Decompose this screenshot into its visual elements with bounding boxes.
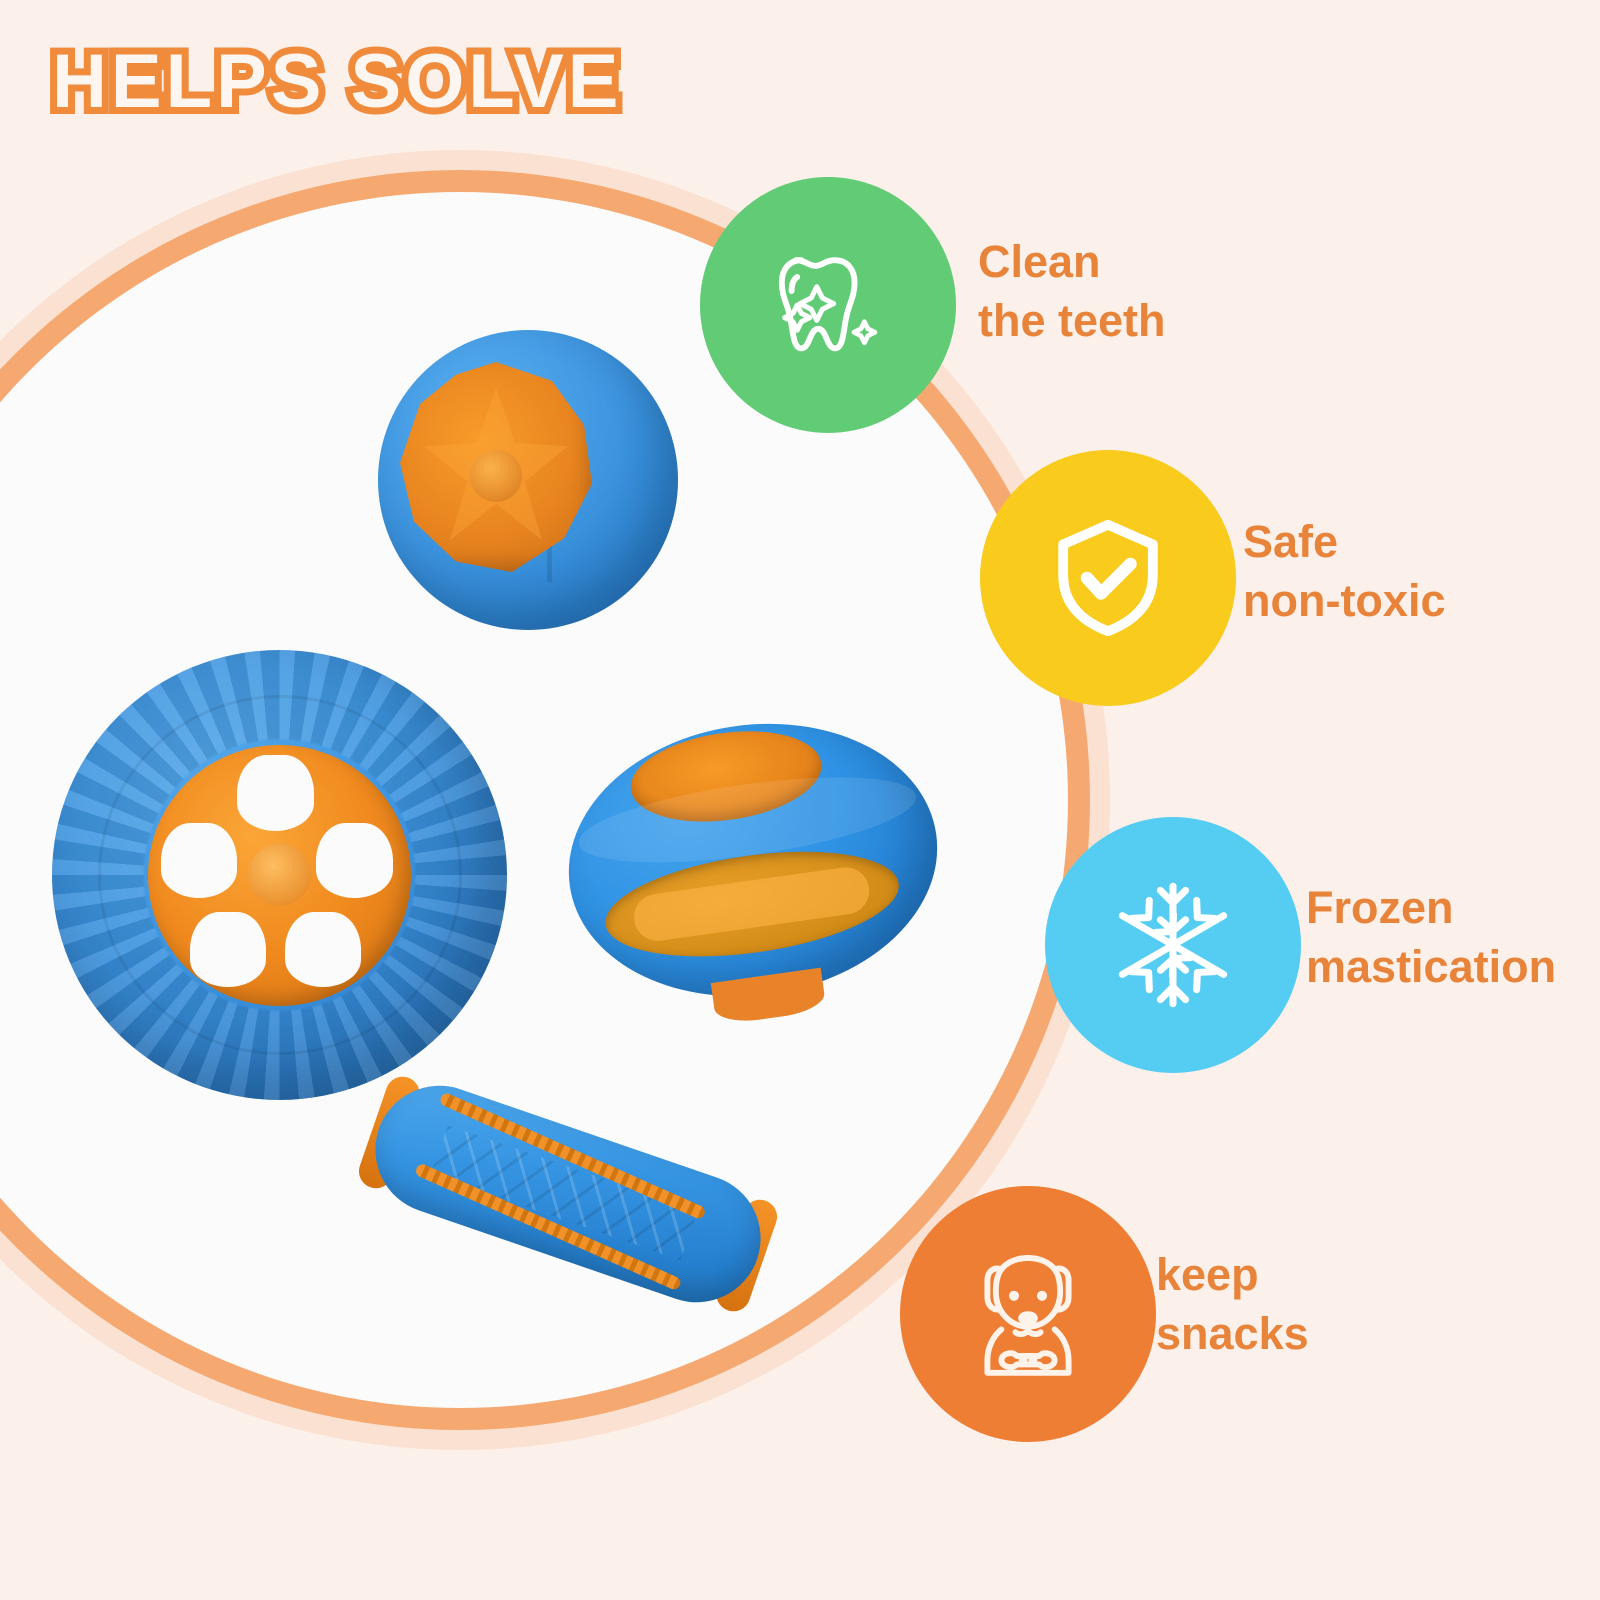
feature-badge-safe-non-toxic[interactable]: [980, 450, 1236, 706]
feature-label-clean-teeth: Clean the teeth: [978, 232, 1166, 351]
feature-label-frozen-mastication: Frozen mastication: [1306, 878, 1556, 997]
feature-badge-frozen-mastication[interactable]: [1045, 817, 1301, 1073]
tire-hub-center: [248, 844, 311, 907]
product-chew-ball: [378, 330, 678, 630]
tire-hub-hole: [316, 823, 393, 899]
feature-label-keep-snacks: keep snacks: [1156, 1245, 1309, 1364]
tooth-sparkle-icon: [758, 235, 898, 375]
tire-hub-hole: [190, 912, 267, 988]
dog-bone-icon: [958, 1244, 1098, 1384]
tire-hub-hole: [161, 823, 238, 899]
feature-label-safe-non-toxic: Safe non-toxic: [1243, 512, 1445, 631]
product-tire-ring: [52, 650, 507, 1100]
feature-badge-clean-teeth[interactable]: [700, 177, 956, 433]
shield-check-icon: [1038, 508, 1178, 648]
ball-center-hub: [470, 450, 522, 502]
tire-hub: [148, 745, 412, 1006]
feature-badge-keep-snacks[interactable]: [900, 1186, 1156, 1442]
promo-infographic: HELPS SOLVE: [0, 0, 1600, 1600]
oval-bone-shape: [631, 864, 872, 943]
tire-hub-hole: [237, 755, 314, 831]
page-title: HELPS SOLVE: [52, 42, 622, 122]
snowflake-icon: [1103, 875, 1243, 1015]
tire-hub-hole: [285, 912, 362, 988]
